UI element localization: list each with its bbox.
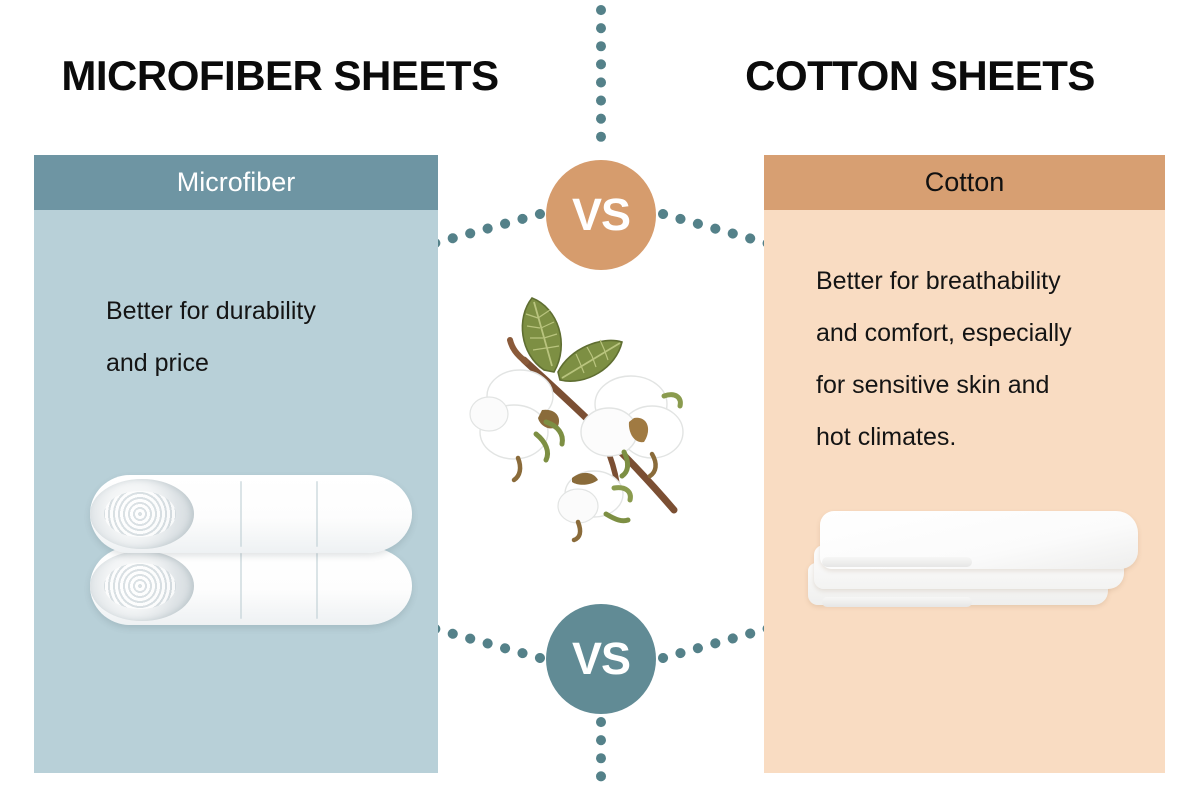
panel-header-cotton: Cotton: [764, 155, 1165, 210]
cotton-text-line-4: hot climates.: [816, 411, 1125, 463]
microfiber-text-line-1: Better for durability: [106, 285, 410, 337]
panel-microfiber: Microfiber Better for durability and pri…: [34, 155, 438, 773]
microfiber-text-line-2: and price: [106, 337, 410, 389]
panel-body-microfiber: Better for durability and price: [34, 285, 438, 389]
towel-roll-bottom: [90, 547, 412, 625]
cotton-text-line-2: and comfort, especially: [816, 307, 1125, 359]
vs-badge-bottom: VS: [546, 604, 656, 714]
headline-microfiber: MICROFIBER SHEETS: [0, 52, 560, 100]
sheet-fold-lip: [822, 557, 972, 567]
cotton-text-line-1: Better for breathability: [816, 255, 1125, 307]
vs-badge-top: VS: [546, 160, 656, 270]
towel-crease: [316, 553, 318, 619]
rolled-towels-image: [62, 475, 412, 635]
panel-header-microfiber: Microfiber: [34, 155, 438, 210]
panel-cotton: Cotton Better for breathability and comf…: [764, 155, 1165, 773]
towel-roll-top: [90, 475, 412, 553]
towel-crease: [240, 553, 242, 619]
cotton-branch-illustration: [466, 292, 716, 548]
towel-crease: [316, 481, 318, 547]
towel-roll-end: [90, 551, 194, 621]
cotton-text-line-3: for sensitive skin and: [816, 359, 1125, 411]
towel-roll-end: [90, 479, 194, 549]
panel-body-cotton: Better for breathability and comfort, es…: [764, 255, 1165, 463]
towel-crease: [240, 481, 242, 547]
folded-sheets-image: [800, 505, 1140, 640]
sheet-fold-lip: [822, 597, 972, 607]
comparison-infographic: MICROFIBER SHEETS COTTON SHEETS Microfib…: [0, 0, 1200, 800]
headline-cotton: COTTON SHEETS: [640, 52, 1200, 100]
